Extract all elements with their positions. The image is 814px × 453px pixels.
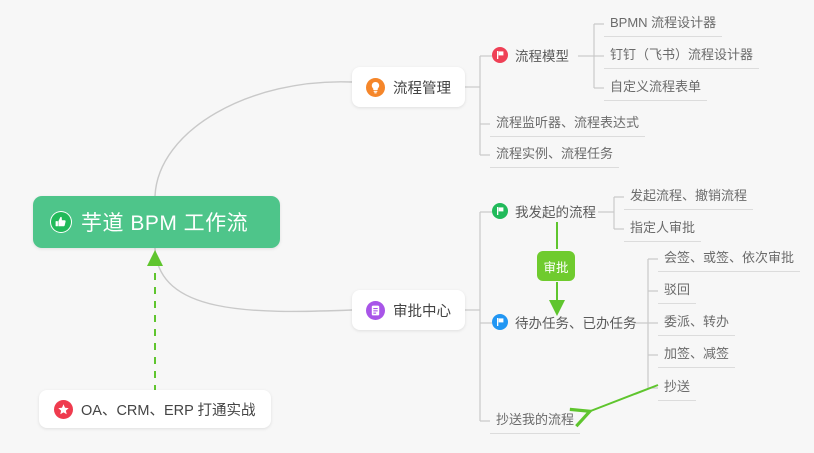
root-label: 芋道 BPM 工作流 [81,207,248,237]
leaf-node[interactable]: 抄送我的流程 [490,409,580,434]
group-node-process-model[interactable]: 流程模型 [492,45,569,65]
group-label: 待办任务、已办任务 [515,312,637,332]
document-icon [366,301,385,320]
branch-label: 审批中心 [393,300,451,321]
leaf-node[interactable]: BPMN 流程设计器 [604,12,722,37]
group-node-my-initiated[interactable]: 我发起的流程 [492,201,596,221]
note-card-label: OA、CRM、ERP 打通实战 [81,399,256,420]
leaf-node[interactable]: 流程实例、流程任务 [490,143,619,168]
branch-node-approval-center[interactable]: 审批中心 [352,290,465,330]
branch-label: 流程管理 [393,77,451,98]
approval-stamp-badge: 审批 [537,251,575,281]
leaf-node[interactable]: 指定人审批 [624,217,701,242]
star-icon [54,400,73,419]
group-label: 我发起的流程 [515,201,596,221]
flag-icon [492,47,508,63]
flag-icon [492,203,508,219]
leaf-node[interactable]: 自定义流程表单 [604,76,707,101]
leaf-node[interactable]: 会签、或签、依次审批 [658,247,800,272]
group-node-todo-done-tasks[interactable]: 待办任务、已办任务 [492,312,637,332]
leaf-node[interactable]: 加签、减签 [658,343,735,368]
thumbs-up-icon [50,211,72,233]
flag-icon [492,314,508,330]
leaf-node[interactable]: 委派、转办 [658,311,735,336]
lightbulb-icon [366,78,385,97]
leaf-node[interactable]: 驳回 [658,279,696,304]
approval-stamp-label: 审批 [543,257,568,276]
leaf-node[interactable]: 抄送 [658,376,696,401]
group-label: 流程模型 [515,45,569,65]
leaf-node[interactable]: 钉钉（飞书）流程设计器 [604,44,759,69]
note-card-integration[interactable]: OA、CRM、ERP 打通实战 [39,390,271,428]
root-node[interactable]: 芋道 BPM 工作流 [33,196,280,248]
leaf-node[interactable]: 流程监听器、流程表达式 [490,112,645,137]
mindmap-canvas: 芋道 BPM 工作流 流程管理 流程模型 BPMN 流程设计器 钉钉（飞书）流程… [0,0,814,453]
branch-node-process-management[interactable]: 流程管理 [352,67,465,107]
leaf-node[interactable]: 发起流程、撤销流程 [624,185,753,210]
